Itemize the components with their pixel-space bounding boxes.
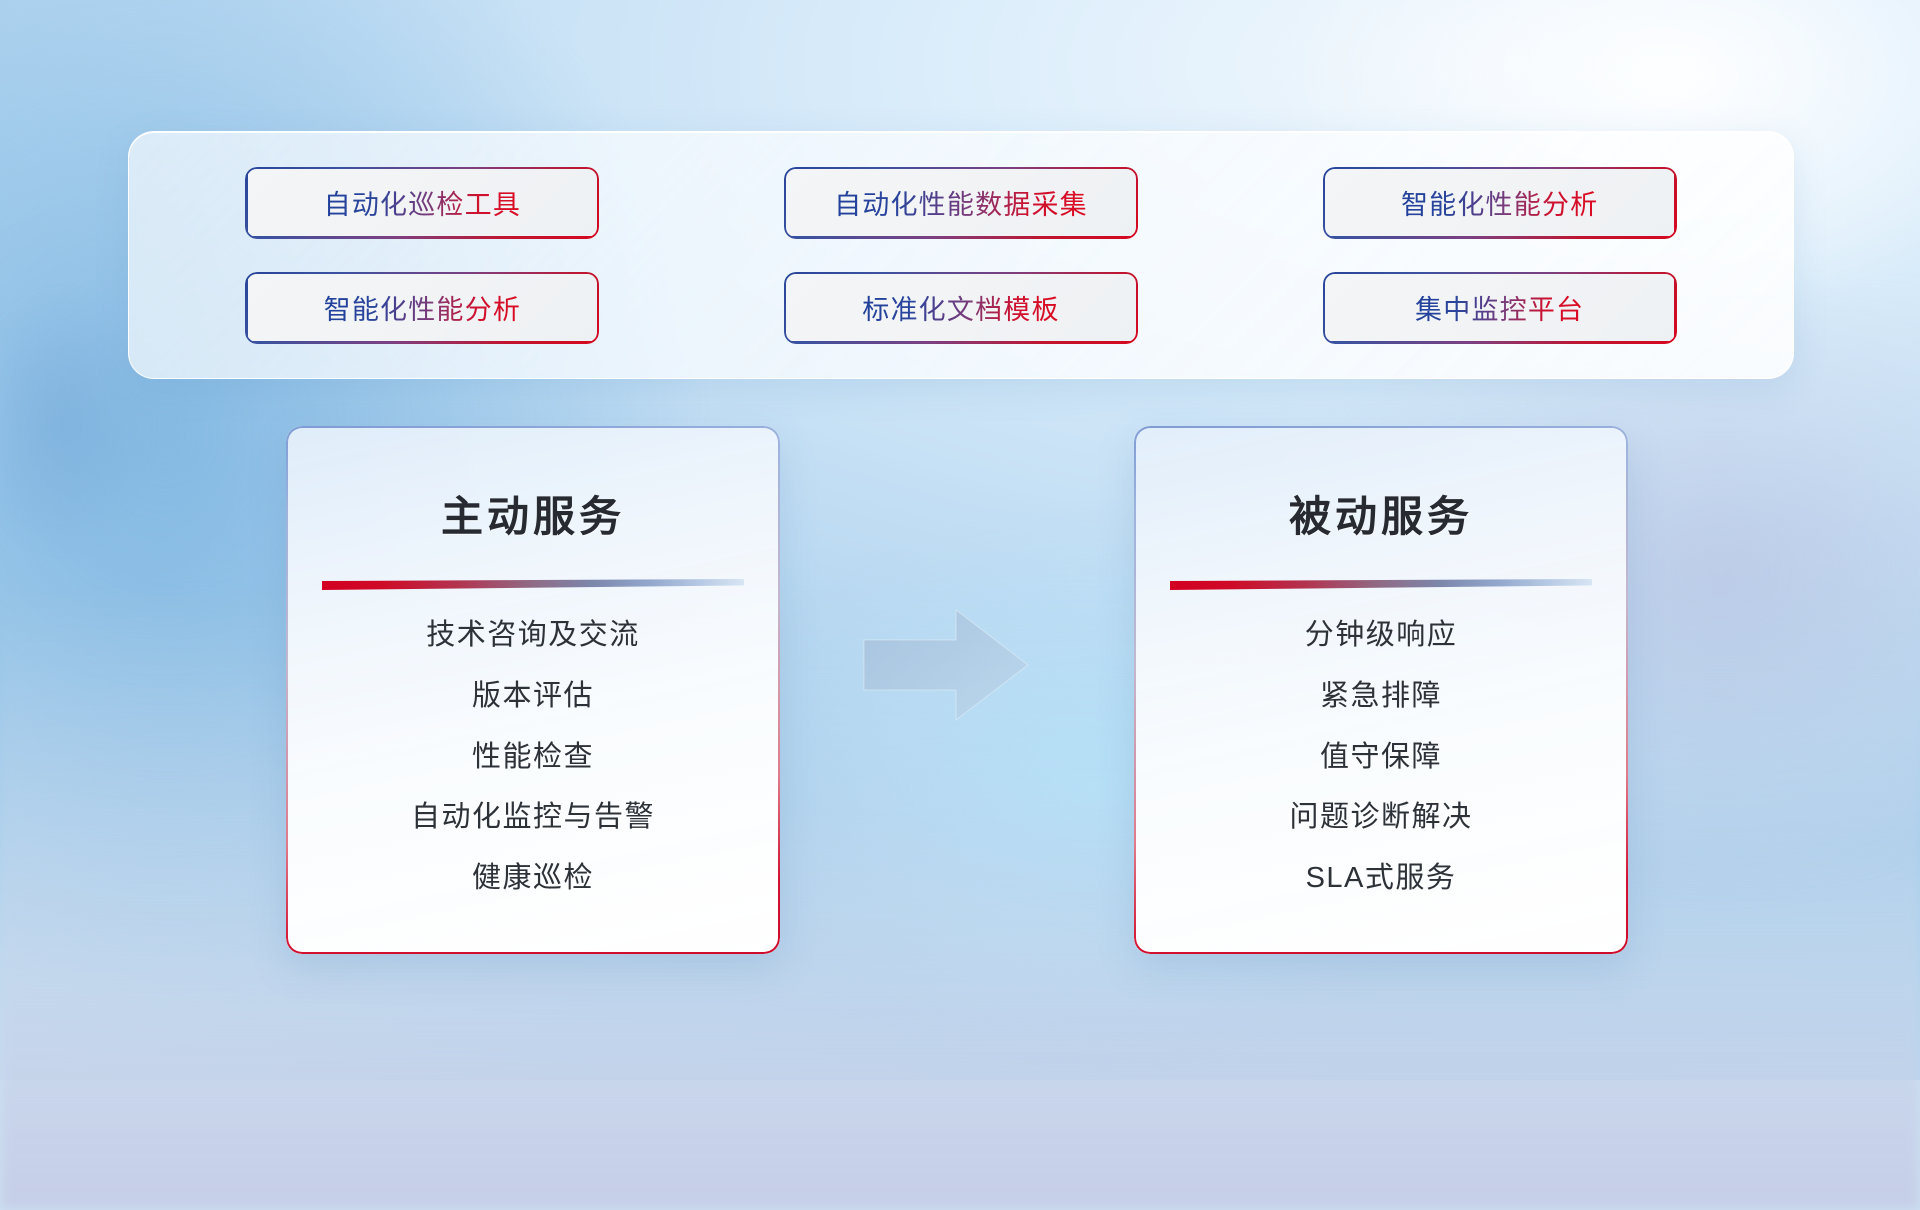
list-item: 值守保障 [1320,740,1442,775]
capability-pill-2-label: 自动化性能数据采集 [834,183,1088,222]
capability-panel: 自动化巡检工具 自动化性能数据采集 智能化性能分析 智能化性能分析 标准化文档模… [128,131,1794,379]
reactive-service-title: 被动服务 [1168,493,1594,541]
list-item: 紧急排障 [1320,679,1442,714]
capability-pill-6-label: 集中监控平台 [1415,288,1584,327]
diagram-stage: 自动化巡检工具 自动化性能数据采集 智能化性能分析 智能化性能分析 标准化文档模… [0,0,1920,1080]
proactive-service-divider-wrap [320,576,746,594]
reactive-service-card-body: 被动服务 分钟级响应 紧急排障 值守保障 问题诊断解决 SLA式服务 [1134,426,1628,954]
capability-pill-3-label: 智能化性能分析 [1401,183,1598,222]
gradient-divider [1170,579,1592,590]
capability-pill-6[interactable]: 集中监控平台 [1323,272,1677,344]
proactive-service-title: 主动服务 [320,493,746,541]
list-item: 分钟级响应 [1305,618,1458,653]
list-item: 问题诊断解决 [1289,800,1472,835]
capability-pill-4-label: 智能化性能分析 [324,288,521,327]
capability-pill-2[interactable]: 自动化性能数据采集 [784,167,1138,239]
capability-pill-1[interactable]: 自动化巡检工具 [245,167,599,239]
list-item: 健康巡检 [472,861,594,896]
capability-pill-5[interactable]: 标准化文档模板 [784,272,1138,344]
capability-pill-3[interactable]: 智能化性能分析 [1323,167,1677,239]
proactive-service-card: 主动服务 技术咨询及交流 版本评估 性能检查 自动化监控与告警 健康巡检 [286,426,780,954]
capability-grid: 自动化巡检工具 自动化性能数据采集 智能化性能分析 智能化性能分析 标准化文档模… [129,132,1793,378]
proactive-service-list: 技术咨询及交流 版本评估 性能检查 自动化监控与告警 健康巡检 [320,618,746,896]
reactive-service-list: 分钟级响应 紧急排障 值守保障 问题诊断解决 SLA式服务 [1168,618,1594,896]
list-item: 版本评估 [472,679,594,714]
proactive-service-card-body: 主动服务 技术咨询及交流 版本评估 性能检查 自动化监控与告警 健康巡检 [286,426,780,954]
gradient-divider [322,579,744,590]
list-item: 自动化监控与告警 [411,800,655,835]
reactive-service-card: 被动服务 分钟级响应 紧急排障 值守保障 问题诊断解决 SLA式服务 [1134,426,1628,954]
reactive-service-divider-wrap [1168,576,1594,594]
list-item: SLA式服务 [1306,861,1457,896]
right-arrow-icon [860,606,1032,724]
capability-pill-1-label: 自动化巡检工具 [324,183,521,222]
capability-pill-4[interactable]: 智能化性能分析 [245,272,599,344]
list-item: 技术咨询及交流 [426,618,640,653]
capability-pill-5-label: 标准化文档模板 [862,288,1059,327]
list-item: 性能检查 [472,740,594,775]
